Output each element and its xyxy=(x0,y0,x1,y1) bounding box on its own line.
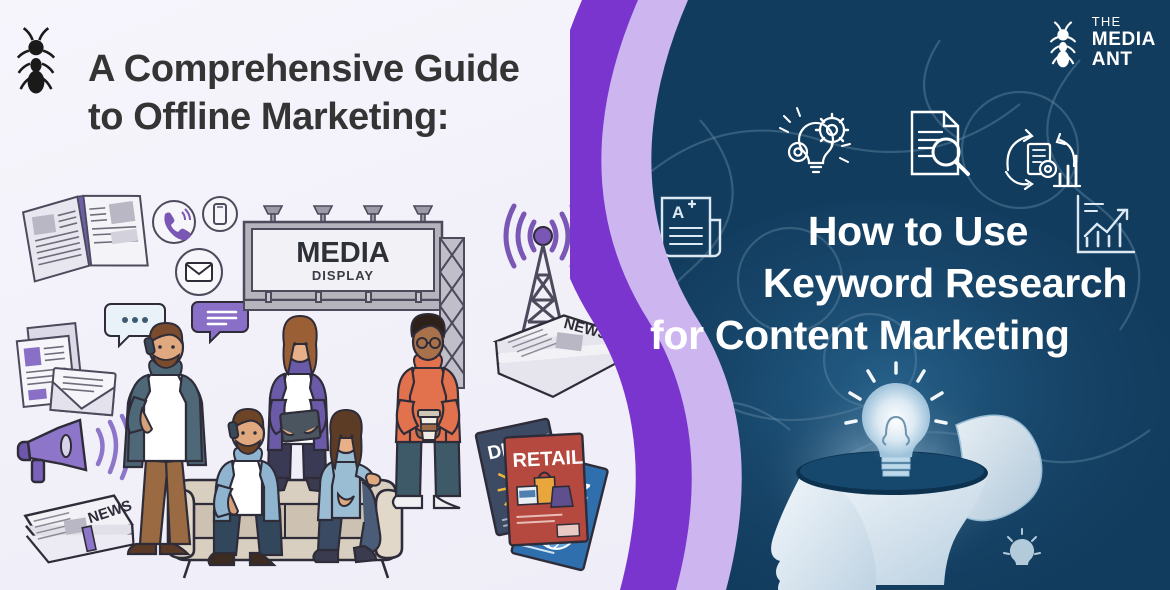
ant-icon xyxy=(1043,14,1083,70)
left-panel: A Comprehensive Guide to Offline Marketi… xyxy=(0,0,660,590)
letters-flyers-icon xyxy=(16,323,116,415)
brand-text: THE MEDIA ANT xyxy=(1092,15,1156,69)
billboard-subline: DISPLAY xyxy=(312,268,374,283)
brand-line-ant: ANT xyxy=(1092,50,1156,69)
brand-line-media: MEDIA xyxy=(1092,30,1156,49)
right-headline: How to Use Keyword Research for Content … xyxy=(688,205,1170,361)
brand-line-the: THE xyxy=(1092,15,1156,28)
open-newspaper-icon xyxy=(22,188,150,282)
megaphone-icon xyxy=(18,416,130,482)
billboard-headline: MEDIA xyxy=(296,237,390,269)
envelope-icon xyxy=(176,249,222,295)
speech-bubble-lines-icon xyxy=(192,302,248,342)
mobile-phone-icon xyxy=(203,197,237,231)
offline-marketing-illustration: NEWS MEDIA DISPLAY xyxy=(0,0,660,590)
right-headline-line1: How to Use xyxy=(688,205,1170,257)
person-woman-standing-tablet xyxy=(263,316,330,492)
right-headline-line3: for Content Marketing xyxy=(650,309,1170,361)
right-headline-line2: Keyword Research xyxy=(688,257,1170,309)
phone-call-icon xyxy=(153,201,195,243)
newspaper-bottom: NEWS xyxy=(24,494,137,563)
brand-logo: THE MEDIA ANT xyxy=(1043,14,1156,70)
marketing-banner: A Comprehensive Guide to Offline Marketi… xyxy=(0,0,1170,590)
